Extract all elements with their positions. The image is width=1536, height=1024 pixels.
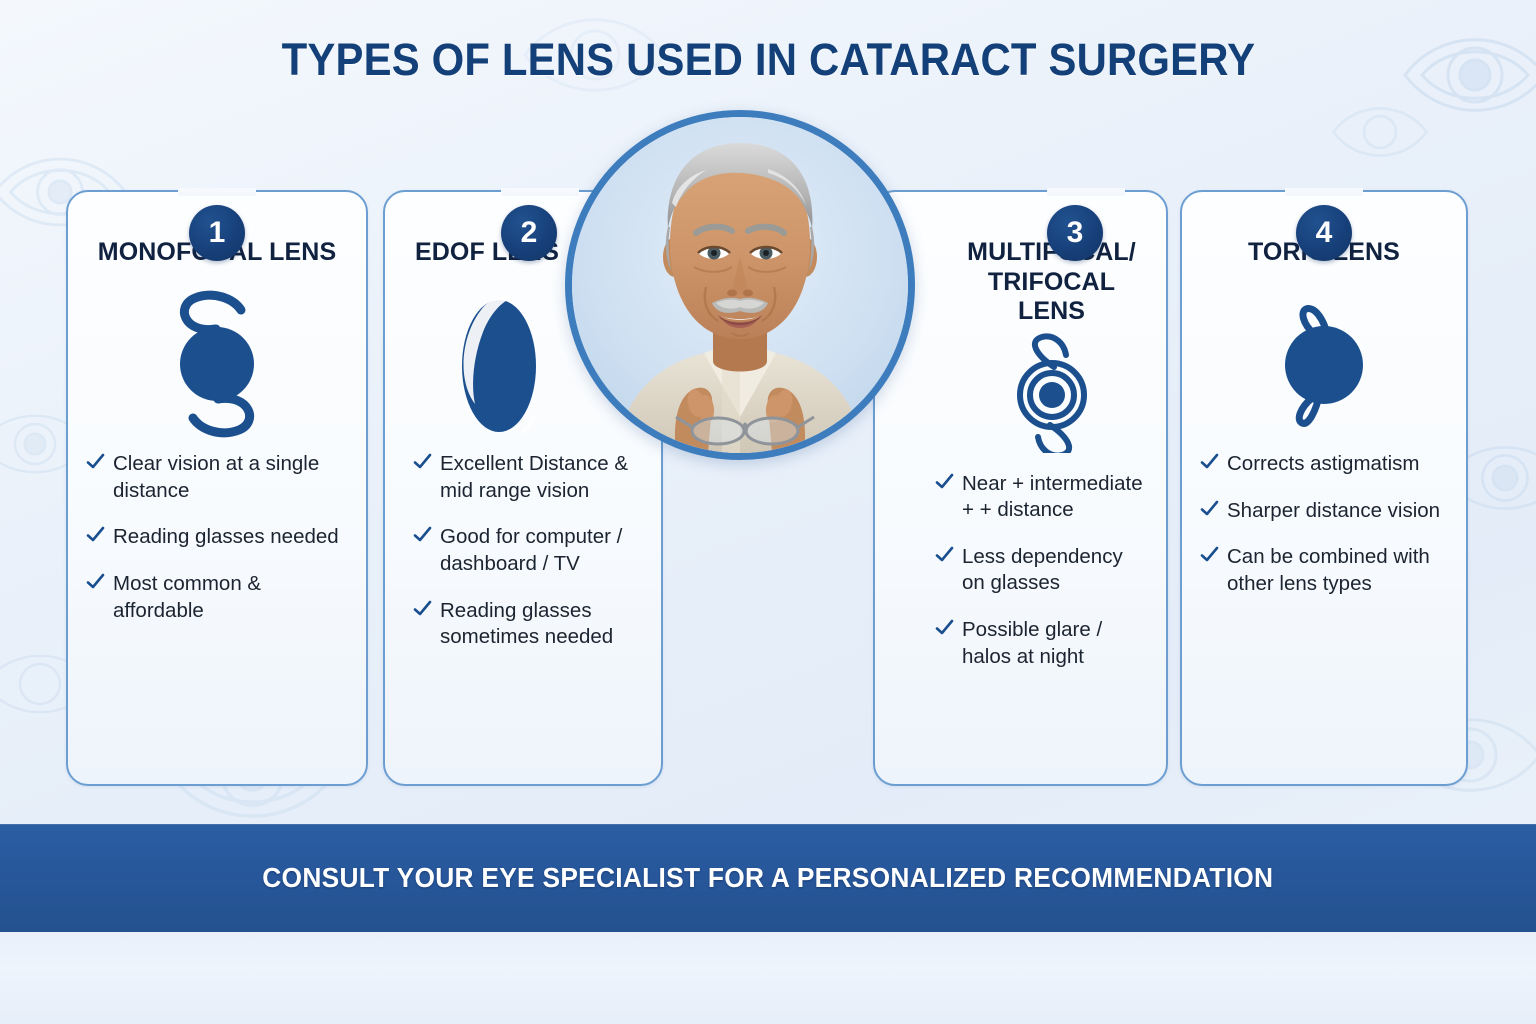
page-title: TYPES OF LENS USED IN CATARACT SURGERY	[281, 34, 1255, 86]
list-item-text: Corrects astigmatism	[1227, 452, 1420, 475]
list-item-text: Reading glasses needed	[113, 525, 339, 548]
portrait-photo	[565, 110, 915, 460]
card-number-badge: 1	[189, 205, 245, 261]
title-container: TYPES OF LENS USED IN CATARACT SURGERY	[0, 34, 1536, 86]
badge-notch	[1047, 188, 1125, 196]
list-item-text: Most common & affordable	[113, 572, 261, 622]
badge-notch	[178, 188, 256, 196]
list-item-text: Good for computer / dashboard / TV	[440, 525, 622, 575]
card-multifocal-trifocal-lens[interactable]: 3 MULTIFOCAL/ TRIFOCAL LENS Near +	[873, 190, 1168, 786]
bullet-list: Near + intermediate + + distance Less de…	[893, 471, 1148, 671]
list-item-text: Reading glasses sometimes needed	[440, 599, 613, 649]
card-number-badge: 4	[1296, 205, 1352, 261]
list-item-text: Excellent Distance & mid range vision	[440, 452, 628, 502]
list-item: Excellent Distance & mid range vision	[413, 451, 643, 504]
list-item: Most common & affordable	[86, 571, 348, 624]
bullet-list: Corrects astigmatism Sharper distance vi…	[1200, 451, 1448, 598]
bullet-list: Excellent Distance & mid range vision Go…	[403, 451, 643, 651]
check-icon	[1200, 545, 1219, 564]
card-monofocal-lens[interactable]: 1 MONOFOCAL LENS Clear vision at a singl…	[66, 190, 368, 786]
list-item: Reading glasses needed	[86, 524, 348, 551]
toric-lens-icon	[1200, 276, 1448, 451]
check-icon	[1200, 452, 1219, 471]
card-number-badge: 3	[1047, 205, 1103, 261]
check-icon	[413, 525, 432, 544]
list-item-text: Can be combined with other lens types	[1227, 545, 1430, 595]
list-item-text: Sharper distance vision	[1227, 499, 1440, 522]
multifocal-lens-icon	[893, 333, 1148, 453]
monofocal-lens-icon	[86, 276, 348, 451]
infographic-root: TYPES OF LENS USED IN CATARACT SURGERY 1…	[0, 0, 1536, 1024]
list-item: Less dependency on glasses	[935, 544, 1148, 597]
eye-watermark	[1330, 95, 1430, 169]
check-icon	[935, 472, 954, 491]
card-number-badge: 2	[501, 205, 557, 261]
banner-text: CONSULT YOUR EYE SPECIALIST FOR A PERSON…	[262, 862, 1273, 894]
list-item: Near + intermediate + + distance	[935, 471, 1148, 524]
list-item-text: Clear vision at a single distance	[113, 452, 319, 502]
list-item-text: Less dependency on glasses	[962, 545, 1123, 595]
check-icon	[413, 599, 432, 618]
bottom-strip	[0, 932, 1536, 1024]
list-item: Good for computer / dashboard / TV	[413, 524, 643, 577]
badge-notch	[1285, 188, 1363, 196]
list-item: Sharper distance vision	[1200, 498, 1448, 525]
list-item: Reading glasses sometimes needed	[413, 598, 643, 651]
list-item: Can be combined with other lens types	[1200, 544, 1448, 597]
card-title: MULTIFOCAL/ TRIFOCAL LENS	[893, 238, 1148, 327]
list-item-text: Possible glare / halos at night	[962, 618, 1102, 668]
list-item: Clear vision at a single distance	[86, 451, 348, 504]
bullet-list: Clear vision at a single distance Readin…	[86, 451, 348, 624]
badge-notch	[501, 188, 579, 196]
check-icon	[935, 618, 954, 637]
check-icon	[413, 452, 432, 471]
check-icon	[935, 545, 954, 564]
list-item: Corrects astigmatism	[1200, 451, 1448, 478]
check-icon	[1200, 499, 1219, 518]
check-icon	[86, 572, 105, 591]
list-item-text: Near + intermediate + + distance	[962, 472, 1143, 522]
card-toric-lens[interactable]: 4 TORIC LENS Corrects astigmatism Sharpe…	[1180, 190, 1468, 786]
check-icon	[86, 525, 105, 544]
footer-banner: CONSULT YOUR EYE SPECIALIST FOR A PERSON…	[0, 824, 1536, 932]
list-item: Possible glare / halos at night	[935, 617, 1148, 670]
check-icon	[86, 452, 105, 471]
